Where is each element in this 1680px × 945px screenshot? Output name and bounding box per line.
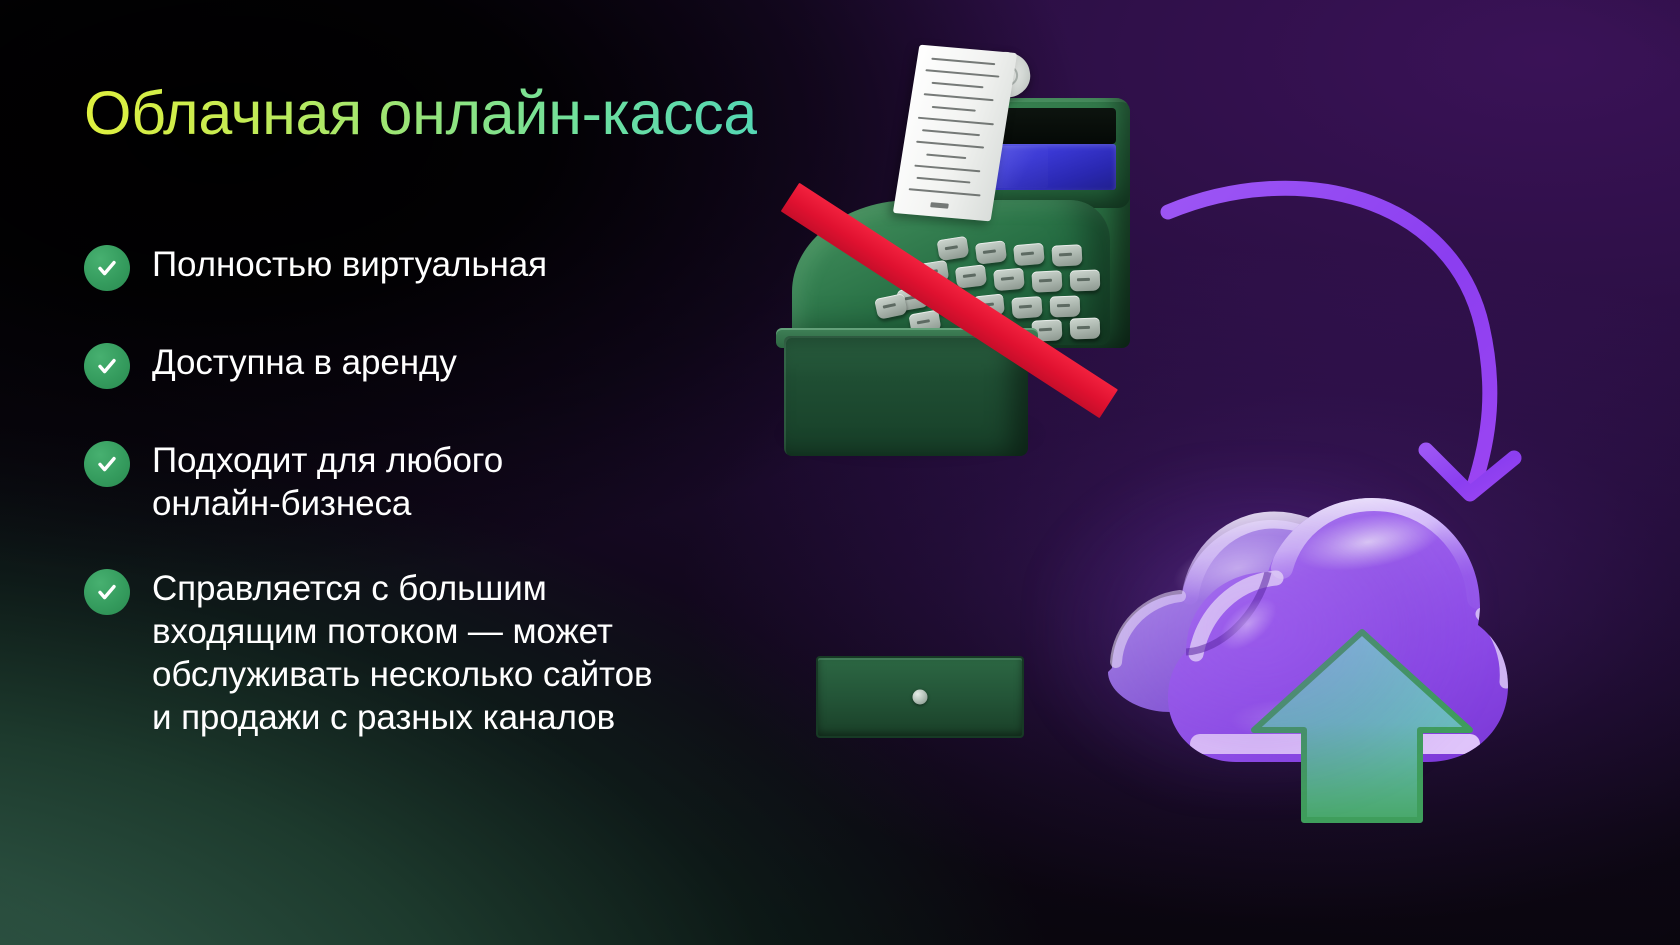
check-icon (84, 441, 130, 487)
list-item-label: Полностью виртуальная (152, 243, 547, 286)
list-item-label: Доступна в аренду (152, 341, 457, 384)
list-item: Полностью виртуальная (84, 243, 844, 291)
list-item-label: Справляется с большим входящим потоком —… (152, 567, 652, 739)
page-title: Облачная онлайн-касса (84, 78, 757, 148)
cloud-glow (1040, 460, 1480, 800)
list-item-label: Подходит для любого онлайн-бизнеса (152, 439, 503, 525)
list-item: Подходит для любого онлайн-бизнеса (84, 439, 844, 525)
list-item: Справляется с большим входящим потоком —… (84, 567, 844, 739)
feature-list: Полностью виртуальная Доступна в аренду … (84, 243, 844, 739)
cash-register-drawer (816, 656, 1024, 738)
cash-register-base (784, 336, 1028, 456)
text-column: Облачная онлайн-касса Полностью виртуаль… (0, 0, 900, 945)
check-icon (84, 569, 130, 615)
cloud-upload-icon (1000, 400, 1520, 830)
check-icon (84, 343, 130, 389)
cash-register-icon (770, 40, 1170, 460)
slide-canvas: Облачная онлайн-касса Полностью виртуаль… (0, 0, 1680, 945)
list-item: Доступна в аренду (84, 341, 844, 389)
check-icon (84, 245, 130, 291)
drawer-knob-icon (913, 690, 928, 705)
